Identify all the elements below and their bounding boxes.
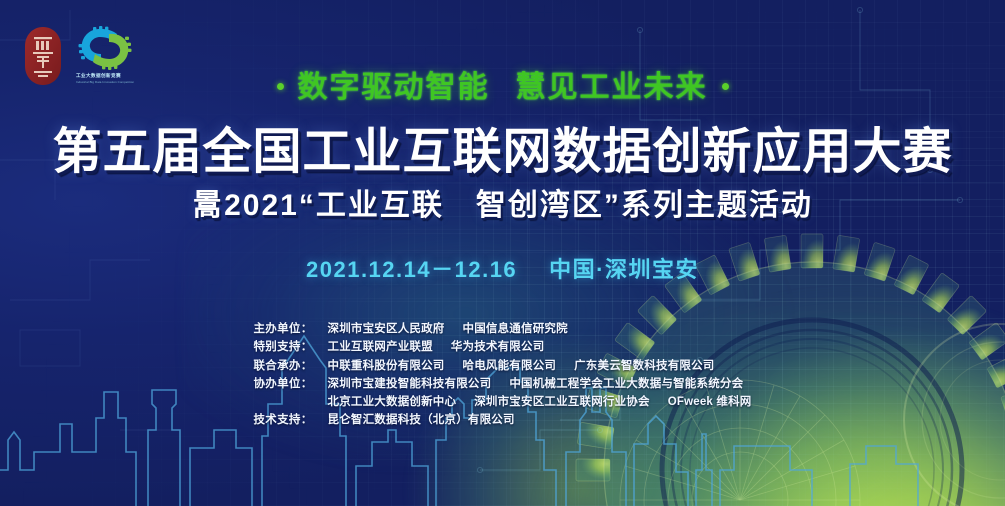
organizer-value: 广东美云智数科技有限公司 xyxy=(574,357,714,375)
organizer-row: 北京工业大数据创新中心 深圳市宝安区工业互联网行业协会 OFweek 维科网 xyxy=(254,393,752,411)
organizer-value: 深圳市宝安区工业互联网行业协会 xyxy=(474,393,650,411)
organizer-value: 工业互联网产业联盟 xyxy=(328,338,433,356)
organizer-value: 深圳市宝安区人民政府 xyxy=(328,320,445,338)
organizer-row: 主办单位： 深圳市宝安区人民政府 中国信息通信研究院 xyxy=(254,320,752,338)
organizer-row: 技术支持： 昆仑智汇数据科技（北京）有限公司 xyxy=(254,411,752,429)
organizer-values: 深圳市宝建投智能科技有限公司 中国机械工程学会工业大数据与智能系统分会 xyxy=(328,375,744,393)
page-subtitle: 暠2021“工业互联 智创湾区”系列主题活动 xyxy=(0,180,1005,224)
organizer-value: 中联重科股份有限公司 xyxy=(328,357,445,375)
organizer-label: 主办单位： xyxy=(254,320,328,338)
organizer-value: 深圳市宝建投智能科技有限公司 xyxy=(328,375,492,393)
organizer-value: 中国机械工程学会工业大数据与智能系统分会 xyxy=(509,375,743,393)
organizer-values: 昆仑智汇数据科技（北京）有限公司 xyxy=(328,411,515,429)
organizer-value: 华为技术有限公司 xyxy=(451,338,545,356)
organizer-list: 主办单位： 深圳市宝安区人民政府 中国信息通信研究院 特别支持： 工业互联网产业… xyxy=(254,320,752,430)
organizer-value: 昆仑智汇数据科技（北京）有限公司 xyxy=(328,411,515,429)
page-title: 第五届全国工业互联网数据创新应用大赛 xyxy=(0,112,1005,183)
organizer-value: 中国信息通信研究院 xyxy=(463,320,568,338)
tagline: 数字驱动智能慧见工业未来 xyxy=(0,62,1005,106)
event-date-location: 2021.12.14－12.16中国·深圳宝安 xyxy=(0,252,1005,284)
organizer-values: 北京工业大数据创新中心 深圳市宝安区工业互联网行业协会 OFweek 维科网 xyxy=(328,393,752,411)
organizer-block: 主办单位： 深圳市宝安区人民政府 中国信息通信研究院 特别支持： 工业互联网产业… xyxy=(0,320,1005,430)
bullet-dot-left-icon xyxy=(277,83,284,90)
organizer-values: 深圳市宝安区人民政府 中国信息通信研究院 xyxy=(328,320,568,338)
tagline-segment-2: 慧见工业未来 xyxy=(516,71,708,104)
organizer-row: 联合承办： 中联重科股份有限公司 哈电风能有限公司 广东美云智数科技有限公司 xyxy=(254,357,752,375)
conference-poster: 工业大数据创新竞赛 Industrial Big Data Innovation… xyxy=(0,0,1005,506)
organizer-label: 特别支持： xyxy=(254,338,328,356)
organizer-label: 协办单位： xyxy=(254,375,328,393)
organizer-values: 中联重科股份有限公司 哈电风能有限公司 广东美云智数科技有限公司 xyxy=(328,357,715,375)
event-location: 中国·深圳宝安 xyxy=(549,257,699,282)
organizer-values: 工业互联网产业联盟 华为技术有限公司 xyxy=(328,338,545,356)
event-date: 2021.12.14－12.16 xyxy=(306,257,517,282)
organizer-row: 特别支持： 工业互联网产业联盟 华为技术有限公司 xyxy=(254,338,752,356)
organizer-value: 北京工业大数据创新中心 xyxy=(328,393,457,411)
bullet-dot-right-icon xyxy=(722,83,729,90)
organizer-value: OFweek 维科网 xyxy=(668,393,752,411)
organizer-label: 联合承办： xyxy=(254,357,328,375)
organizer-row: 协办单位： 深圳市宝建投智能科技有限公司 中国机械工程学会工业大数据与智能系统分… xyxy=(254,375,752,393)
organizer-label: 技术支持： xyxy=(254,411,328,429)
poster-content: 数字驱动智能慧见工业未来 第五届全国工业互联网数据创新应用大赛 暠2021“工业… xyxy=(0,0,1005,506)
tagline-segment-1: 数字驱动智能 xyxy=(298,71,490,104)
organizer-value: 哈电风能有限公司 xyxy=(463,357,557,375)
